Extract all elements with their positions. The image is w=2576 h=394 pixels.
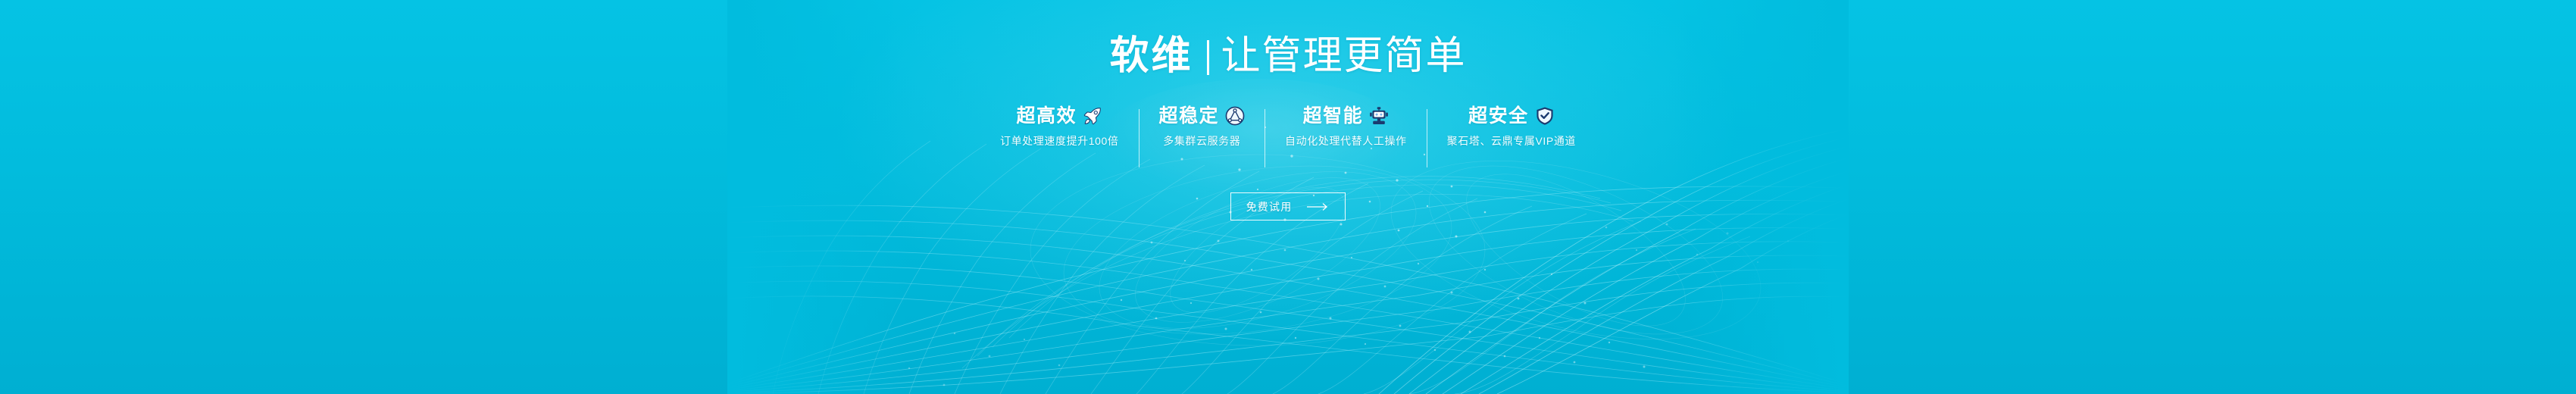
feature-heading: 超智能 (1303, 106, 1390, 126)
feature-subtitle: 聚石塔、云鼎专属VIP通道 (1447, 136, 1576, 146)
hero-banner: 软维 让管理更简单 超高效 订单处理速度提升100倍 (0, 0, 2576, 394)
feature-subtitle: 自动化处理代替人工操作 (1285, 136, 1407, 146)
free-trial-button[interactable]: 免费试用 (1230, 192, 1346, 220)
feature-subtitle: 订单处理速度提升100倍 (1000, 136, 1119, 146)
feature-item-efficiency: 超高效 订单处理速度提升100倍 (980, 106, 1139, 146)
feature-item-intelligence: 超智能 (1265, 106, 1427, 146)
feature-label: 超高效 (1016, 107, 1077, 126)
hero-content: 软维 让管理更简单 超高效 订单处理速度提升100倍 (0, 0, 2576, 394)
network-triangle-icon (1225, 106, 1245, 126)
robot-icon (1369, 106, 1389, 126)
arrow-right-icon (1307, 203, 1330, 211)
feature-heading: 超高效 (1016, 106, 1102, 126)
feature-heading: 超安全 (1468, 106, 1555, 126)
feature-label: 超稳定 (1159, 107, 1220, 126)
feature-item-security: 超安全 聚石塔、云鼎专属VIP通道 (1427, 106, 1596, 146)
hero-title: 软维 让管理更简单 (1109, 36, 1466, 76)
feature-item-stability: 超稳定 多集群云服务器 (1140, 106, 1265, 146)
free-trial-label: 免费试用 (1246, 202, 1293, 212)
title-separator (1207, 40, 1209, 75)
feature-label: 超安全 (1468, 107, 1529, 126)
feature-heading: 超稳定 (1159, 106, 1246, 126)
brand-name: 软维 (1109, 36, 1193, 76)
feature-label: 超智能 (1303, 107, 1364, 126)
rocket-icon (1083, 106, 1102, 126)
cta-container: 免费试用 (1230, 192, 1346, 220)
shield-check-icon (1535, 106, 1555, 126)
feature-subtitle: 多集群云服务器 (1163, 136, 1240, 146)
hero-slogan: 让管理更简单 (1221, 36, 1467, 76)
feature-list: 超高效 订单处理速度提升100倍 超稳定 (980, 106, 1596, 176)
